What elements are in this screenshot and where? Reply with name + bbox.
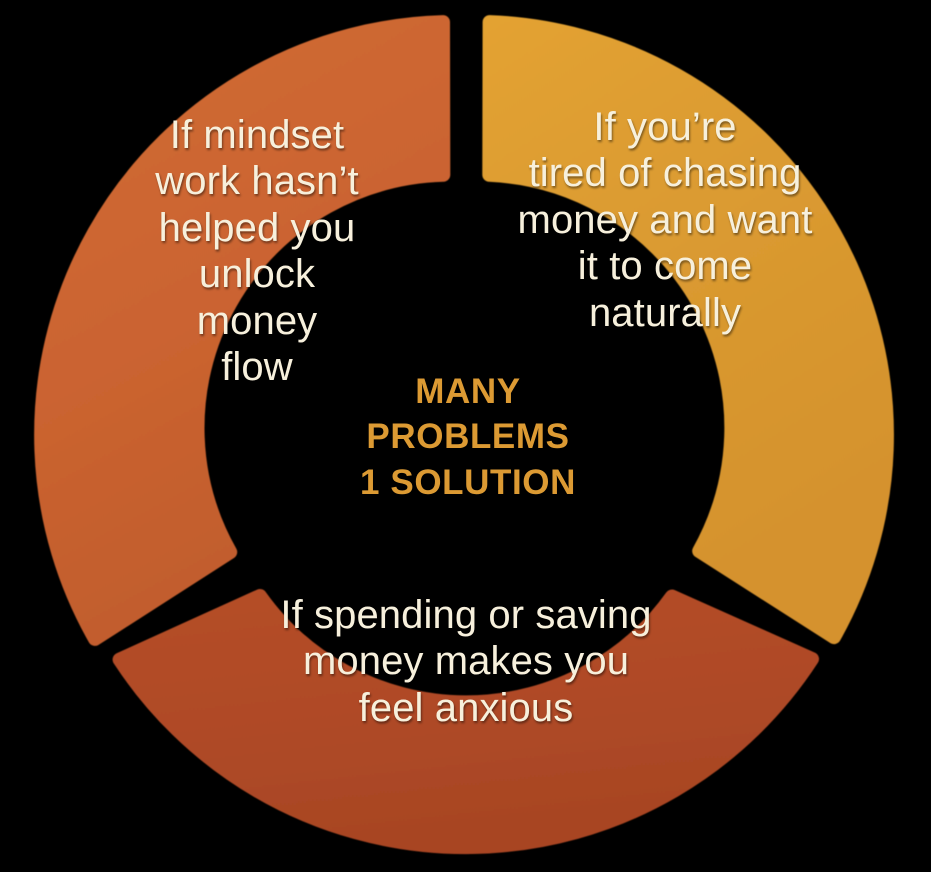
center-hub: MANY PROBLEMS 1 SOLUTION <box>316 285 620 589</box>
center-hub-line-2: PROBLEMS <box>366 414 569 460</box>
center-hub-line-3: 1 SOLUTION <box>360 460 576 506</box>
money-mindset-donut-infographic: If mindset work hasn’t helped you unlock… <box>0 0 931 872</box>
center-hub-line-1: MANY <box>415 369 520 415</box>
